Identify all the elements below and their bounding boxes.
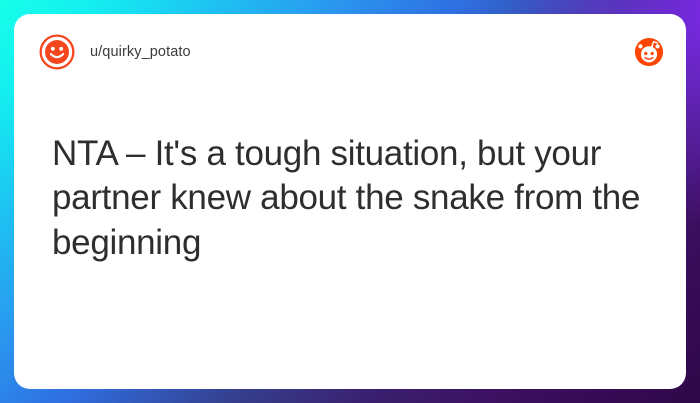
reddit-snoo-icon: [634, 37, 664, 67]
post-body: NTA – It's a tough situation, but your p…: [14, 90, 686, 389]
post-header: u/quirky_potato: [14, 14, 686, 90]
smiley-face-avatar-icon: [38, 33, 76, 71]
post-text: NTA – It's a tough situation, but your p…: [52, 132, 658, 265]
post-username: u/quirky_potato: [90, 44, 191, 60]
reddit-post-card: u/quirky_potato NTA – It's a tough situa…: [14, 14, 686, 389]
gradient-background: u/quirky_potato NTA – It's a tough situa…: [0, 0, 700, 403]
